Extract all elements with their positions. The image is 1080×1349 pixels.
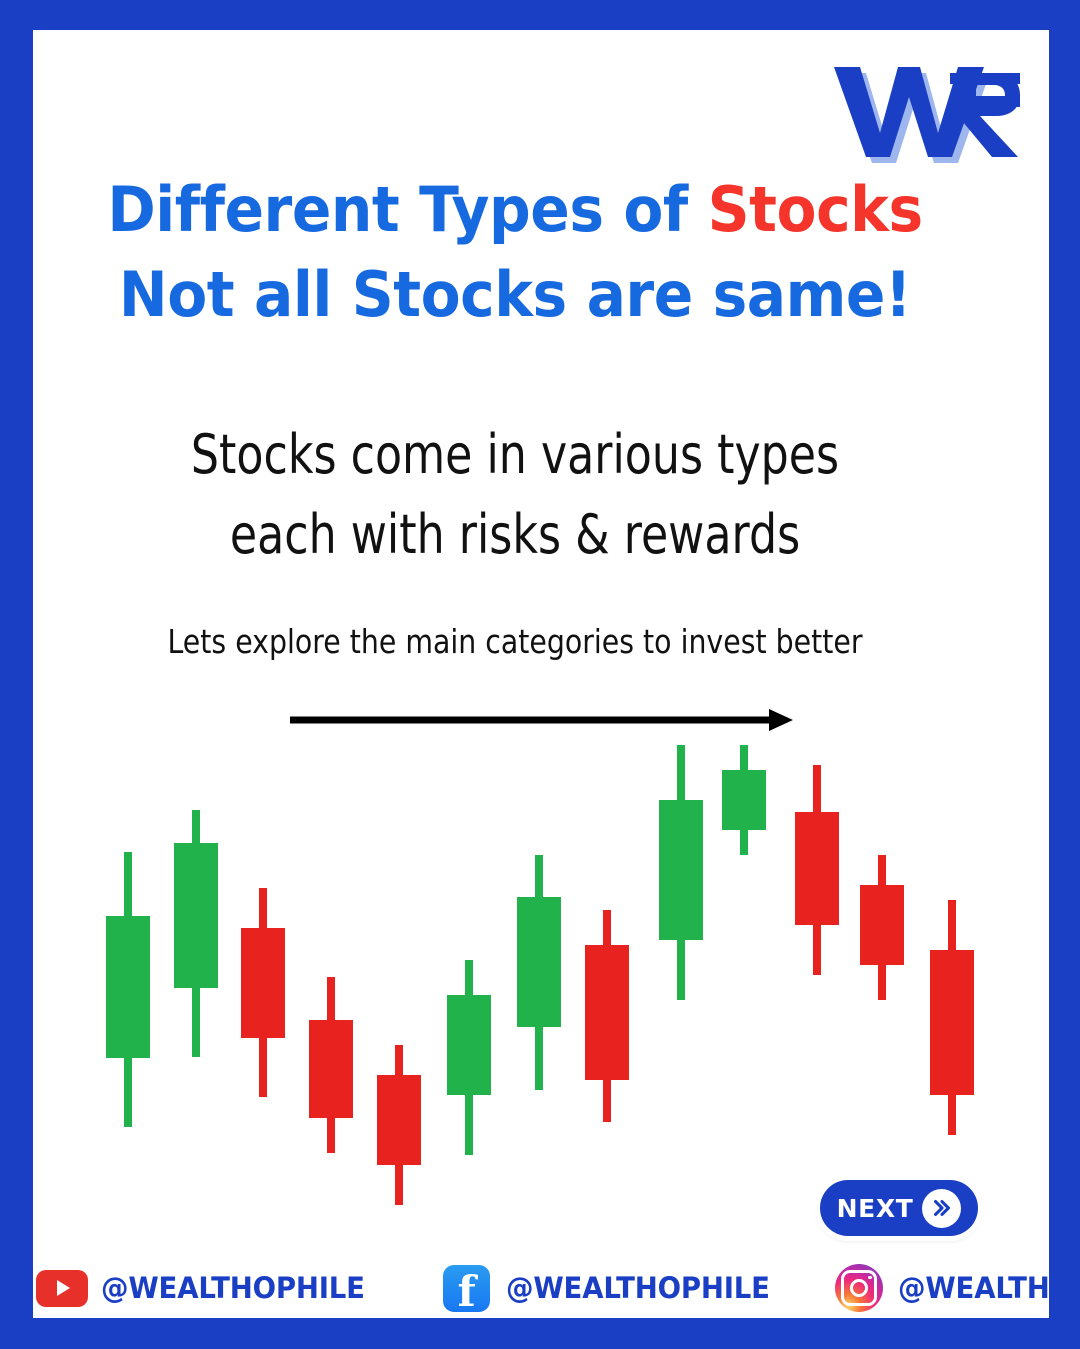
next-button-label: NEXT [837, 1194, 914, 1223]
social-youtube[interactable]: @WEALTHOPHILE [36, 1262, 379, 1314]
subheading: Stocks come in various types each with r… [126, 415, 905, 575]
youtube-icon[interactable] [36, 1262, 88, 1314]
next-button[interactable]: NEXT [820, 1180, 978, 1236]
facebook-icon[interactable]: f [441, 1262, 493, 1314]
title-line-1-blue: Different Types of [107, 173, 707, 246]
time-arrow [285, 706, 795, 734]
social-facebook[interactable]: f @WEALTHOPHILE [441, 1262, 784, 1314]
social-instagram[interactable]: @WEALTHOPHILE [833, 1262, 1080, 1314]
page-title: Different Types of Stocks Not all Stocks… [40, 178, 990, 326]
tagline: Lets explore the main categories to inve… [107, 622, 924, 661]
facebook-handle: @WEALTHOPHILE [506, 1271, 770, 1305]
subheading-line-1: Stocks come in various types [126, 415, 905, 495]
instagram-handle: @WEALTHOPHILE [898, 1271, 1080, 1305]
youtube-handle: @WEALTHOPHILE [101, 1271, 365, 1305]
instagram-icon[interactable] [833, 1262, 885, 1314]
subheading-line-2: each with risks & rewards [126, 495, 905, 575]
footer-social-bar: @WEALTHOPHILE f @WEALTHOPHILE @WEALTHOPH… [36, 1259, 1048, 1317]
title-line-1-red: Stocks [708, 173, 923, 246]
title-line-2: Not all Stocks are same! [69, 263, 962, 326]
wealthophile-logo [830, 55, 1030, 170]
title-line-1: Different Types of Stocks [69, 178, 962, 241]
double-chevron-right-icon [922, 1189, 961, 1228]
